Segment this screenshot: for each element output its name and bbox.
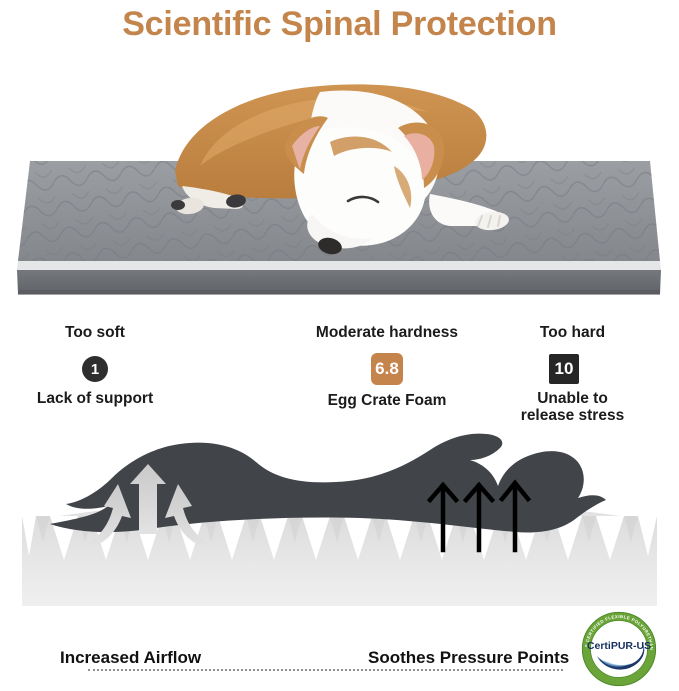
scale-middle-marker: 6.8	[371, 353, 403, 385]
scale-middle-caption-top: Moderate hardness	[292, 324, 482, 342]
scale-right-caption-bottom-line1: Unable to	[485, 390, 660, 407]
scale-left-caption-bottom: Lack of support	[0, 390, 190, 407]
scale-right-caption-bottom-line2: release stress	[485, 407, 660, 424]
scale-right-value: 10	[549, 354, 579, 384]
scale-dotted-line	[88, 669, 563, 671]
page-title: Scientific Spinal Protection	[0, 0, 679, 48]
infographic-page: Scientific Spinal Protection	[0, 0, 679, 691]
scale-left-marker: 1	[82, 356, 108, 382]
scale-middle-caption-bottom: Egg Crate Foam	[292, 392, 482, 409]
certipur-us-badge: CONTAINS CERTIFIED FLEXIBLE POLYURETHANE…	[578, 608, 670, 690]
scale-left-value: 1	[82, 356, 108, 382]
badge-wordmark: CertiPUR-US	[587, 640, 651, 652]
foam-cross-section-diagram	[0, 424, 679, 639]
scale-right-marker: 10	[549, 354, 579, 384]
scale-left-caption-top: Too soft	[0, 324, 190, 342]
scale-right-caption-bottom: Unable to release stress	[485, 390, 660, 425]
scale-middle-value: 6.8	[371, 353, 403, 385]
hardness-scale: Too soft 1 Lack of support Moderate hard…	[0, 312, 679, 417]
scale-right-caption-top: Too hard	[485, 324, 660, 342]
pressure-arrows	[430, 483, 528, 550]
hero-product-photo	[0, 46, 679, 301]
pressure-points-label: Soothes Pressure Points	[368, 648, 569, 668]
airflow-label: Increased Airflow	[60, 648, 201, 668]
